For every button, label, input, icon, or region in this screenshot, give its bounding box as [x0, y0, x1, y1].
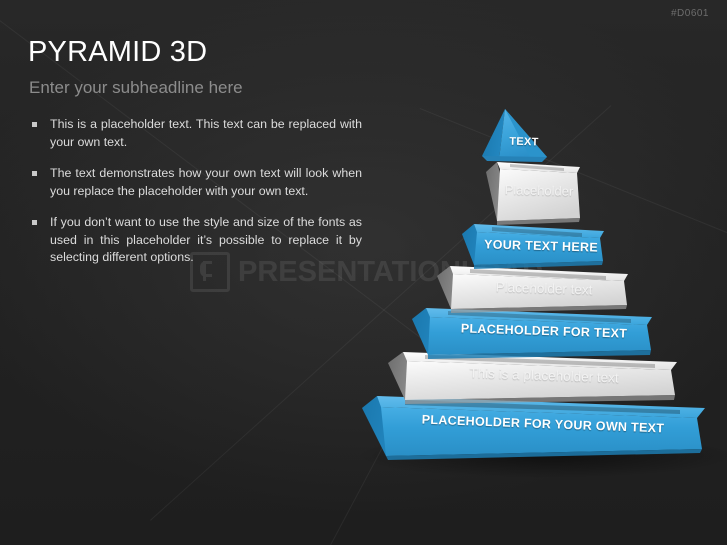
pyramid-3d-diagram[interactable]: TEXT Placeholder YOUR TEXT HERE Placehol… [350, 100, 727, 480]
list-item-text: If you don’t want to use the style and s… [50, 214, 362, 267]
square-bullet-icon [32, 214, 50, 267]
pyramid-svg [350, 100, 727, 480]
bullet-list: This is a placeholder text. This text ca… [32, 116, 362, 281]
pyramid-level-2 [486, 162, 580, 225]
document-id: #D0601 [671, 8, 709, 19]
square-bullet-icon [32, 116, 50, 151]
slide-canvas: PRESENTATIONLOAD #D0601 PYRAMID 3D Enter… [0, 0, 727, 545]
page-subtitle[interactable]: Enter your subheadline here [29, 78, 243, 98]
list-item[interactable]: This is a placeholder text. This text ca… [32, 116, 362, 151]
page-title: PYRAMID 3D [28, 36, 207, 69]
pyramid-level-1 [482, 109, 547, 162]
list-item-text: The text demonstrates how your own text … [50, 165, 362, 200]
list-item-text: This is a placeholder text. This text ca… [50, 116, 362, 151]
square-bullet-icon [32, 165, 50, 200]
list-item[interactable]: The text demonstrates how your own text … [32, 165, 362, 200]
list-item[interactable]: If you don’t want to use the style and s… [32, 214, 362, 267]
